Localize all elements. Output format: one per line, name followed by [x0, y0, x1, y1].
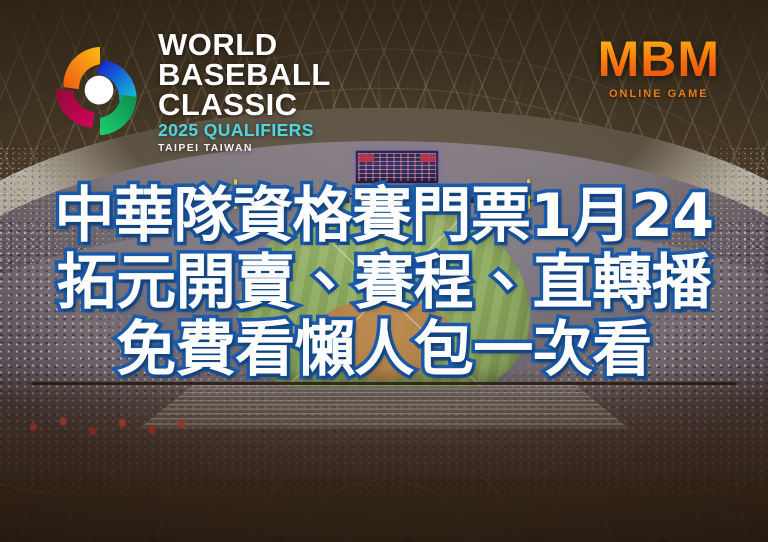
- wbc-title-line2: BASEBALL: [158, 60, 331, 90]
- wbc-logo: WORLD BASEBALL CLASSIC 2025 QUALIFIERS T…: [52, 28, 331, 153]
- headline-line-1: 中華隊資格賽門票1月24: [0, 184, 768, 249]
- foreground-crowd-silhouettes: [0, 390, 768, 542]
- mbm-subtitle: ONLINE GAME: [598, 88, 720, 100]
- wbc-title-line3: CLASSIC: [158, 90, 331, 120]
- mbm-wordmark: MBM: [598, 34, 720, 84]
- wbc-pinwheel-icon: [52, 36, 148, 146]
- scoreboard-accent-right: [420, 154, 435, 162]
- headline-line-2: 拓元開賣、賽程、直轉播: [0, 251, 768, 316]
- wbc-host-city-label: TAIPEI TAIWAN: [158, 143, 331, 154]
- stadium-scoreboard: [355, 150, 439, 184]
- mbm-logo: MBM ONLINE GAME: [598, 34, 720, 100]
- headline-block: 中華隊資格賽門票1月24 拓元開賣、賽程、直轉播 免費看懶人包一次看: [0, 184, 768, 382]
- wbc-qualifiers-label: 2025 QUALIFIERS: [158, 122, 331, 140]
- promo-banner: WORLD BASEBALL CLASSIC 2025 QUALIFIERS T…: [0, 0, 768, 542]
- headline-line-3: 免費看懶人包一次看: [0, 318, 768, 383]
- wbc-wordmark: WORLD BASEBALL CLASSIC 2025 QUALIFIERS T…: [158, 28, 331, 153]
- scoreboard-accent-left: [359, 154, 374, 162]
- wbc-title-line1: WORLD: [158, 30, 331, 60]
